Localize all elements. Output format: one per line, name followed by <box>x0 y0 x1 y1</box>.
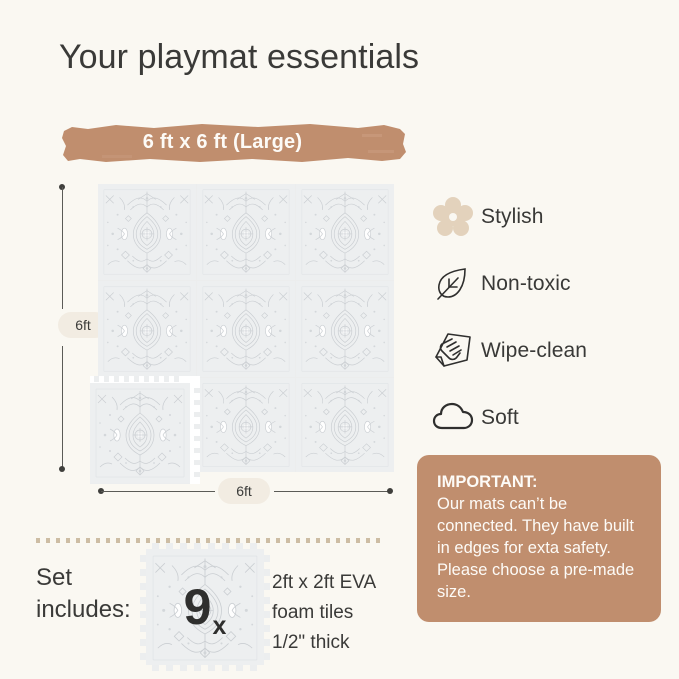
page-title: Your playmat essentials <box>59 38 419 77</box>
set-includes-description: 2ft x 2ft EVA foam tiles 1/2" thick <box>272 568 376 658</box>
set-includes-tile: 9 x <box>140 543 270 671</box>
set-desc-line3: 1/2" thick <box>272 628 376 658</box>
set-includes-line1: Set <box>36 562 131 594</box>
size-tag: 6 ft x 6 ft (Large) <box>62 122 407 164</box>
infographic-root: Your playmat essentials 6 ft x 6 ft (Lar… <box>0 0 679 679</box>
mat-tile <box>296 281 394 377</box>
mat-tile <box>197 281 295 377</box>
set-tile-count: 9 x <box>140 543 270 671</box>
mat-tile <box>98 281 196 377</box>
important-body: Our mats can’t be connected. They have b… <box>437 493 643 603</box>
dim-line-left <box>101 491 215 493</box>
dim-line-right <box>274 491 388 493</box>
dim-line-lower <box>62 346 64 469</box>
set-includes-line2: includes: <box>36 594 131 626</box>
feature-label: Non-toxic <box>481 272 571 296</box>
width-label: 6ft <box>218 478 270 504</box>
detached-mat-tile <box>90 376 200 484</box>
width-dimension: 6ft <box>98 484 394 498</box>
section-divider <box>36 530 386 535</box>
feature-label: Soft <box>481 406 519 430</box>
detached-tile-surface <box>90 383 190 484</box>
important-callout: IMPORTANT: Our mats can’t be connected. … <box>417 455 661 622</box>
mat-tile <box>296 378 394 472</box>
leaf-icon <box>425 260 481 308</box>
wipe-cloth-icon <box>425 327 481 375</box>
set-count-suffix: x <box>212 612 226 641</box>
set-desc-line1: 2ft x 2ft EVA <box>272 568 376 598</box>
important-title: IMPORTANT: <box>437 471 643 493</box>
dim-dot-right <box>387 488 393 494</box>
mat-tile <box>98 184 196 280</box>
flower-icon <box>425 193 481 241</box>
height-dimension: 6ft <box>55 184 69 472</box>
mat-tile <box>197 378 295 472</box>
set-count-number: 9 <box>184 582 212 632</box>
dim-line-upper <box>62 187 64 309</box>
set-desc-line2: foam tiles <box>272 598 376 628</box>
feature-item-soft: Soft <box>425 384 665 451</box>
mat-diagram: 6ft 6ft <box>34 176 416 506</box>
dim-dot-bottom <box>59 466 65 472</box>
feature-label: Wipe-clean <box>481 339 587 363</box>
feature-item-stylish: Stylish <box>425 183 665 250</box>
feature-item-wipe-clean: Wipe-clean <box>425 317 665 384</box>
size-tag-label: 6 ft x 6 ft (Large) <box>62 122 407 164</box>
cloud-icon <box>425 394 481 442</box>
feature-list: Stylish Non-toxic <box>425 183 665 451</box>
feature-item-non-toxic: Non-toxic <box>425 250 665 317</box>
set-includes-label: Set includes: <box>36 562 131 626</box>
mat-tile <box>296 184 394 280</box>
feature-label: Stylish <box>481 205 544 229</box>
mat-tile <box>197 184 295 280</box>
